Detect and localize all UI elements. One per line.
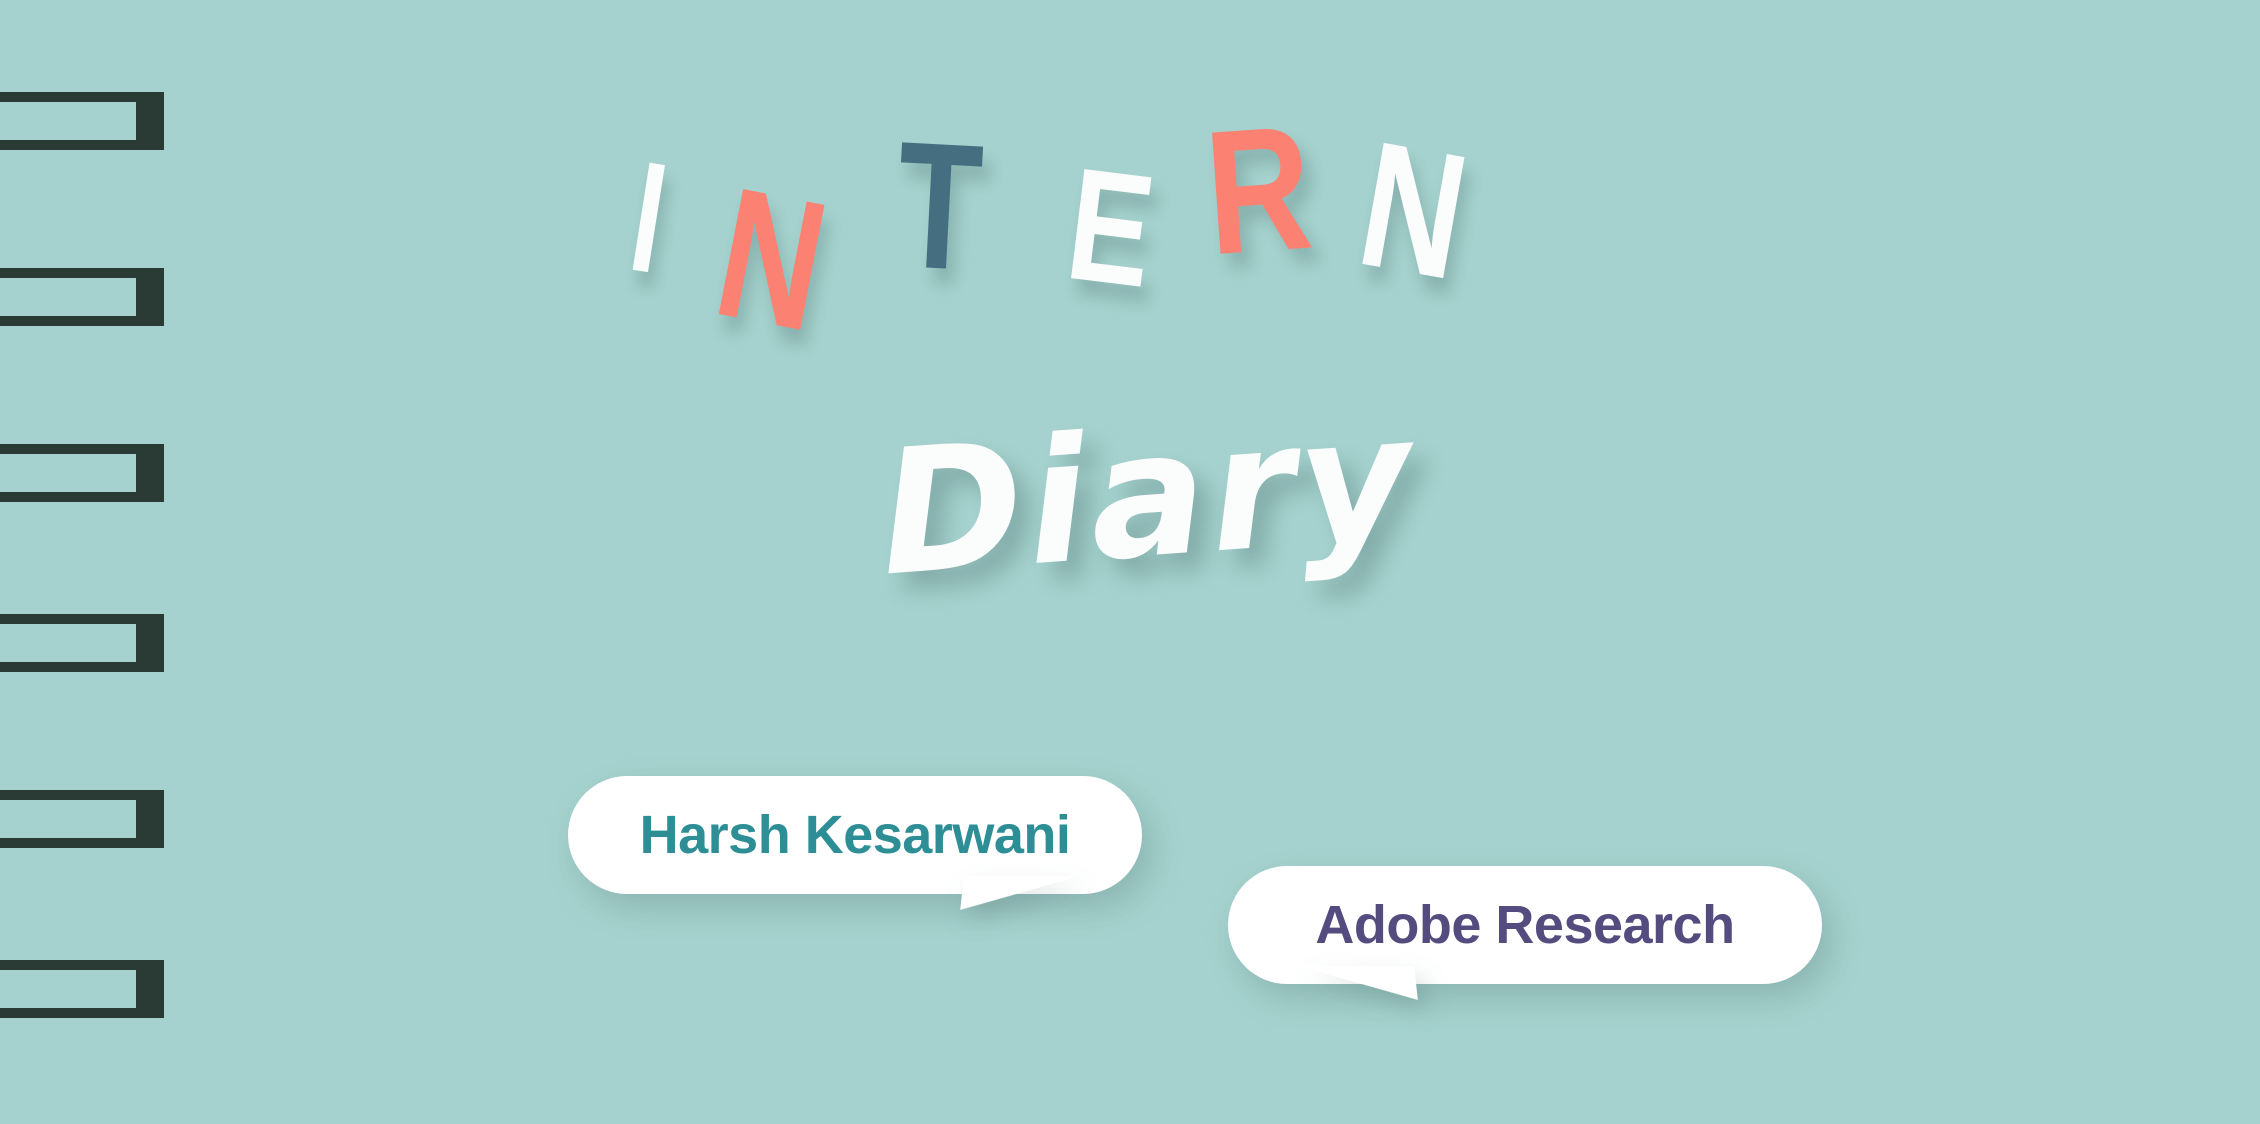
binding-ring	[0, 790, 164, 848]
presenter-name-label: Harsh Kesarwani	[640, 804, 1071, 866]
binding-ring-hole	[0, 800, 136, 838]
binding-ring-hole	[0, 454, 136, 492]
binding-ring	[0, 268, 164, 326]
organization-label: Adobe Research	[1315, 894, 1734, 956]
presenter-name-bubble-tail	[960, 876, 1080, 910]
organization-bubble-tail	[1298, 966, 1418, 1000]
binding-ring	[0, 614, 164, 672]
title-letter-n1: N	[704, 160, 839, 361]
binding-ring	[0, 960, 164, 1018]
title-letter-n2: N	[1348, 114, 1478, 307]
title-letter-e: E	[1060, 144, 1162, 313]
title-letter-r: R	[1200, 98, 1316, 281]
binding-ring-hole	[0, 624, 136, 662]
binding-ring-hole	[0, 278, 136, 316]
notebook-spiral-binding	[0, 0, 170, 1124]
binding-ring	[0, 444, 164, 502]
binding-ring	[0, 92, 164, 150]
slide-canvas: I N T E R N Diary Harsh Kesarwani Adobe …	[0, 0, 2260, 1124]
title-letter-i: I	[622, 137, 676, 297]
title-letter-t: T	[893, 114, 986, 298]
title-word-diary: Diary	[875, 392, 1420, 601]
binding-ring-hole	[0, 102, 136, 140]
binding-ring-hole	[0, 970, 136, 1008]
title-word-intern: I N T E R N	[620, 120, 1700, 440]
